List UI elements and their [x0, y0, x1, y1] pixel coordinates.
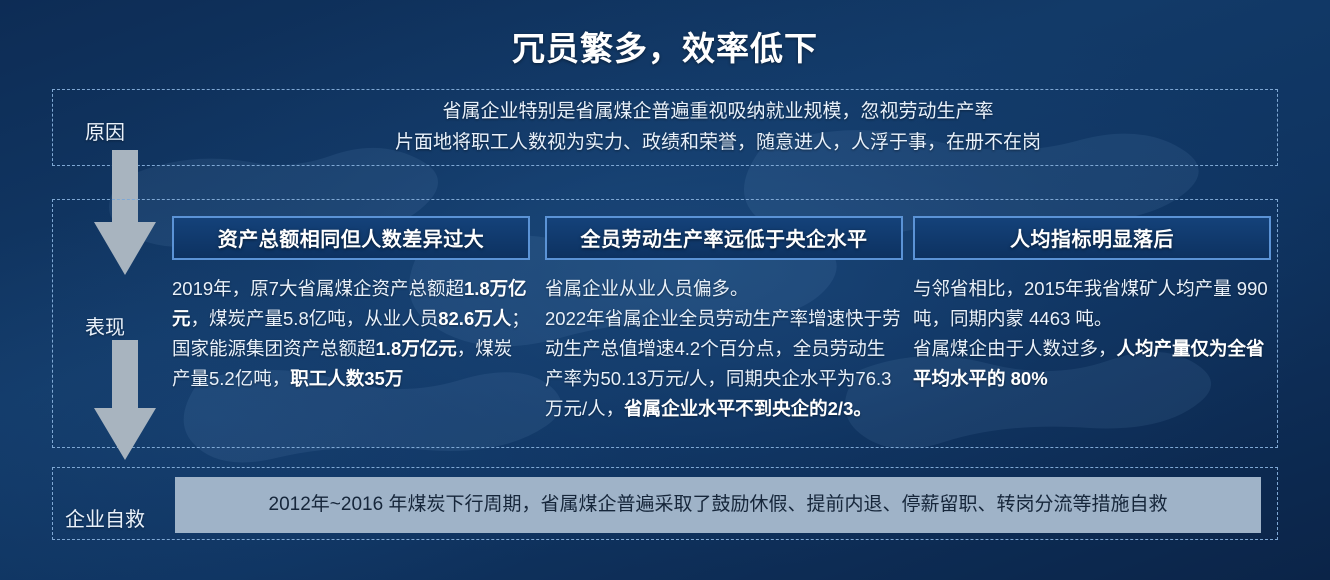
row-label-self-rescue: 企业自救 [65, 503, 145, 532]
paragraph: 省属煤企由于人数过多，人均产量仅为全省平均水平的 80% [913, 334, 1271, 394]
column-heading-3: 人均指标明显落后 [913, 216, 1271, 260]
performance-column-2: 全员劳动生产率远低于央企水平 省属企业从业人员偏多。2022年省属企业全员劳动生… [545, 216, 903, 424]
column-body-3: 与邻省相比，2015年我省煤矿人均产量 990吨，同期内蒙 4463 吨。省属煤… [913, 274, 1271, 394]
column-body-2: 省属企业从业人员偏多。2022年省属企业全员劳动生产率增速快于劳动生产总值增速4… [545, 274, 903, 424]
performance-column-1: 资产总额相同但人数差异过大 2019年，原7大省属煤企资产总额超1.8万亿元，煤… [172, 216, 530, 394]
self-rescue-bar: 2012年~2016 年煤炭下行周期，省属煤企普遍采取了鼓励休假、提前内退、停薪… [175, 477, 1261, 533]
paragraph: 省属企业从业人员偏多。 [545, 274, 903, 304]
performance-column-3: 人均指标明显落后 与邻省相比，2015年我省煤矿人均产量 990吨，同期内蒙 4… [913, 216, 1271, 394]
slide-canvas: 冗员繁多，效率低下 原因 省属企业特别是省属煤企普遍重视吸纳就业规模，忽视劳动生… [0, 0, 1330, 580]
column-body-1: 2019年，原7大省属煤企资产总额超1.8万亿元，煤炭产量5.8亿吨，从业人员8… [172, 274, 530, 394]
paragraph: 2022年省属企业全员劳动生产率增速快于劳动生产总值增速4.2个百分点，全员劳动… [545, 304, 903, 424]
paragraph: 2019年，原7大省属煤企资产总额超1.8万亿元，煤炭产量5.8亿吨，从业人员8… [172, 274, 530, 334]
column-heading-1: 资产总额相同但人数差异过大 [172, 216, 530, 260]
cause-line-1: 省属企业特别是省属煤企普遍重视吸纳就业规模，忽视劳动生产率 [178, 96, 1258, 127]
paragraph: 国家能源集团资产总额超1.8万亿元，煤炭产量5.2亿吨，职工人数35万 [172, 334, 530, 394]
row-label-cause: 原因 [85, 116, 125, 145]
self-rescue-text: 2012年~2016 年煤炭下行周期，省属煤企普遍采取了鼓励休假、提前内退、停薪… [269, 492, 1168, 518]
row-label-performance: 表现 [85, 311, 125, 340]
page-title: 冗员繁多，效率低下 [0, 22, 1330, 70]
column-heading-2: 全员劳动生产率远低于央企水平 [545, 216, 903, 260]
paragraph: 与邻省相比，2015年我省煤矿人均产量 990吨，同期内蒙 4463 吨。 [913, 274, 1271, 334]
cause-line-2: 片面地将职工人数视为实力、政绩和荣誉，随意进人，人浮于事，在册不在岗 [178, 127, 1258, 158]
cause-text: 省属企业特别是省属煤企普遍重视吸纳就业规模，忽视劳动生产率 片面地将职工人数视为… [178, 96, 1258, 158]
